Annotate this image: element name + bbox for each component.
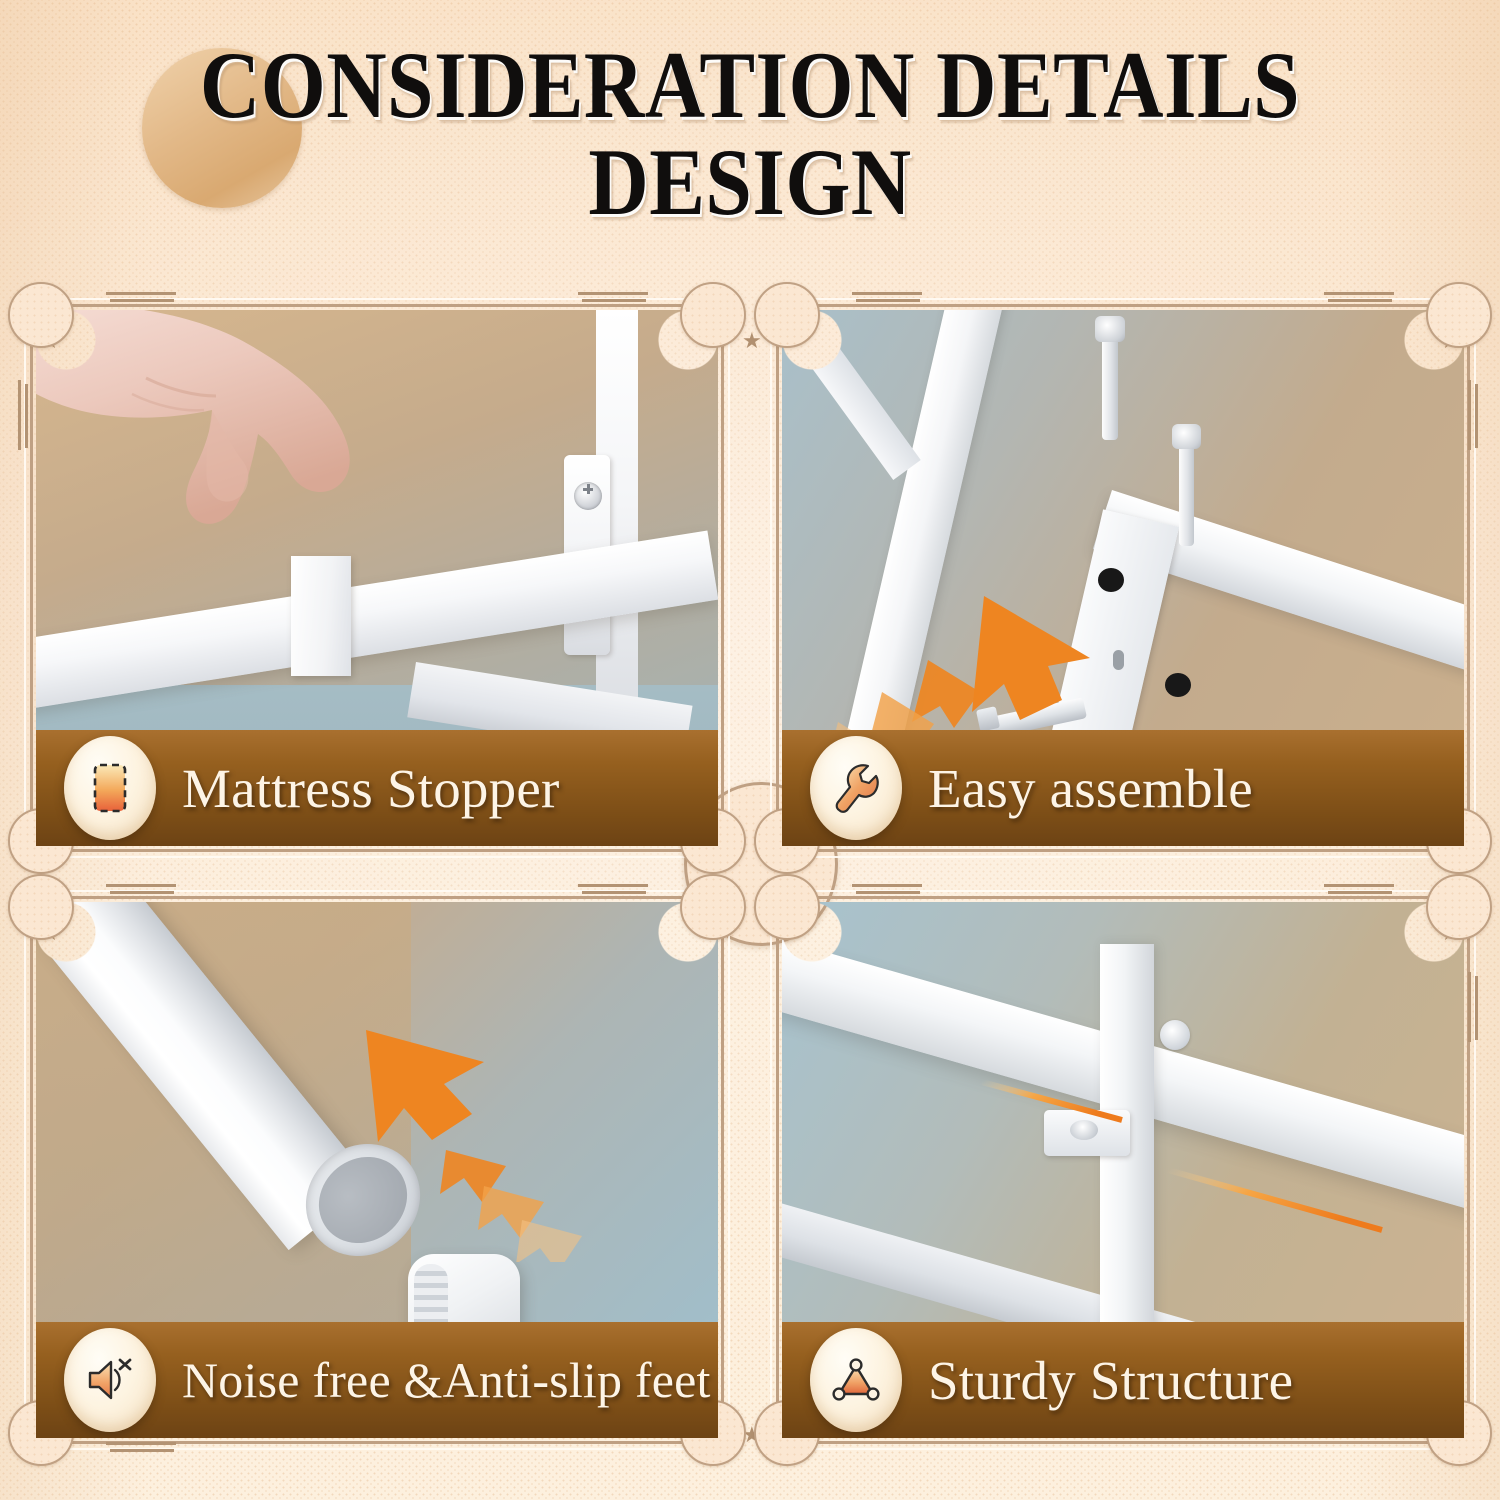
feature-panel-mattress-stopper[interactable]: Mattress Stopper bbox=[14, 288, 740, 868]
frame-tick bbox=[852, 292, 922, 306]
frame-tick bbox=[578, 884, 648, 898]
wrench-icon bbox=[810, 736, 902, 840]
frame-corner-notch bbox=[680, 874, 746, 940]
mute-speaker-icon bbox=[64, 1328, 156, 1432]
feature-panel-grid: Mattress Stopper bbox=[14, 288, 1486, 1486]
panel-caption-bar: Noise free &Anti-slip feet bbox=[36, 1322, 718, 1438]
truss-triangle-icon bbox=[810, 1328, 902, 1432]
page-header: CONSIDERATION DETAILS DESIGN bbox=[0, 40, 1500, 270]
frame-tick bbox=[106, 1442, 176, 1456]
feature-panel-sturdy-structure[interactable]: Sturdy Structure bbox=[760, 880, 1486, 1460]
frame-tick bbox=[1468, 380, 1482, 450]
feature-panel-easy-assemble[interactable]: Easy assemble bbox=[760, 288, 1486, 868]
panel-caption-label: Sturdy Structure bbox=[928, 1353, 1293, 1408]
frame-tick bbox=[1324, 884, 1394, 898]
panel-caption-bar: Mattress Stopper bbox=[36, 730, 718, 846]
frame-tick bbox=[18, 380, 32, 450]
frame-tick bbox=[1468, 972, 1482, 1042]
panel-caption-bar: Sturdy Structure bbox=[782, 1322, 1464, 1438]
frame-corner-notch bbox=[8, 282, 74, 348]
page-title-line-2: DESIGN bbox=[90, 137, 1410, 228]
frame-tick bbox=[106, 292, 176, 306]
panel-caption-label: Mattress Stopper bbox=[182, 761, 559, 816]
frame-corner-notch bbox=[1426, 282, 1492, 348]
mattress-stopper-icon bbox=[64, 736, 156, 840]
frame-tick bbox=[578, 292, 648, 306]
panel-caption-bar: Easy assemble bbox=[782, 730, 1464, 846]
feature-panel-noise-free-anti-slip-feet[interactable]: Noise free &Anti-slip feet bbox=[14, 880, 740, 1460]
page-title-line-1: CONSIDERATION DETAILS bbox=[90, 40, 1410, 131]
frame-corner-notch bbox=[8, 874, 74, 940]
frame-tick bbox=[852, 884, 922, 898]
frame-corner-notch bbox=[754, 874, 820, 940]
frame-corner-notch bbox=[680, 282, 746, 348]
frame-tick bbox=[1324, 292, 1394, 306]
frame-corner-notch bbox=[754, 282, 820, 348]
hand-illustration bbox=[36, 310, 456, 604]
panel-caption-label: Noise free &Anti-slip feet bbox=[182, 1355, 711, 1405]
frame-corner-notch bbox=[1426, 874, 1492, 940]
orange-arrow-icon bbox=[336, 1022, 636, 1262]
panel-caption-label: Easy assemble bbox=[928, 761, 1253, 816]
frame-tick bbox=[106, 884, 176, 898]
